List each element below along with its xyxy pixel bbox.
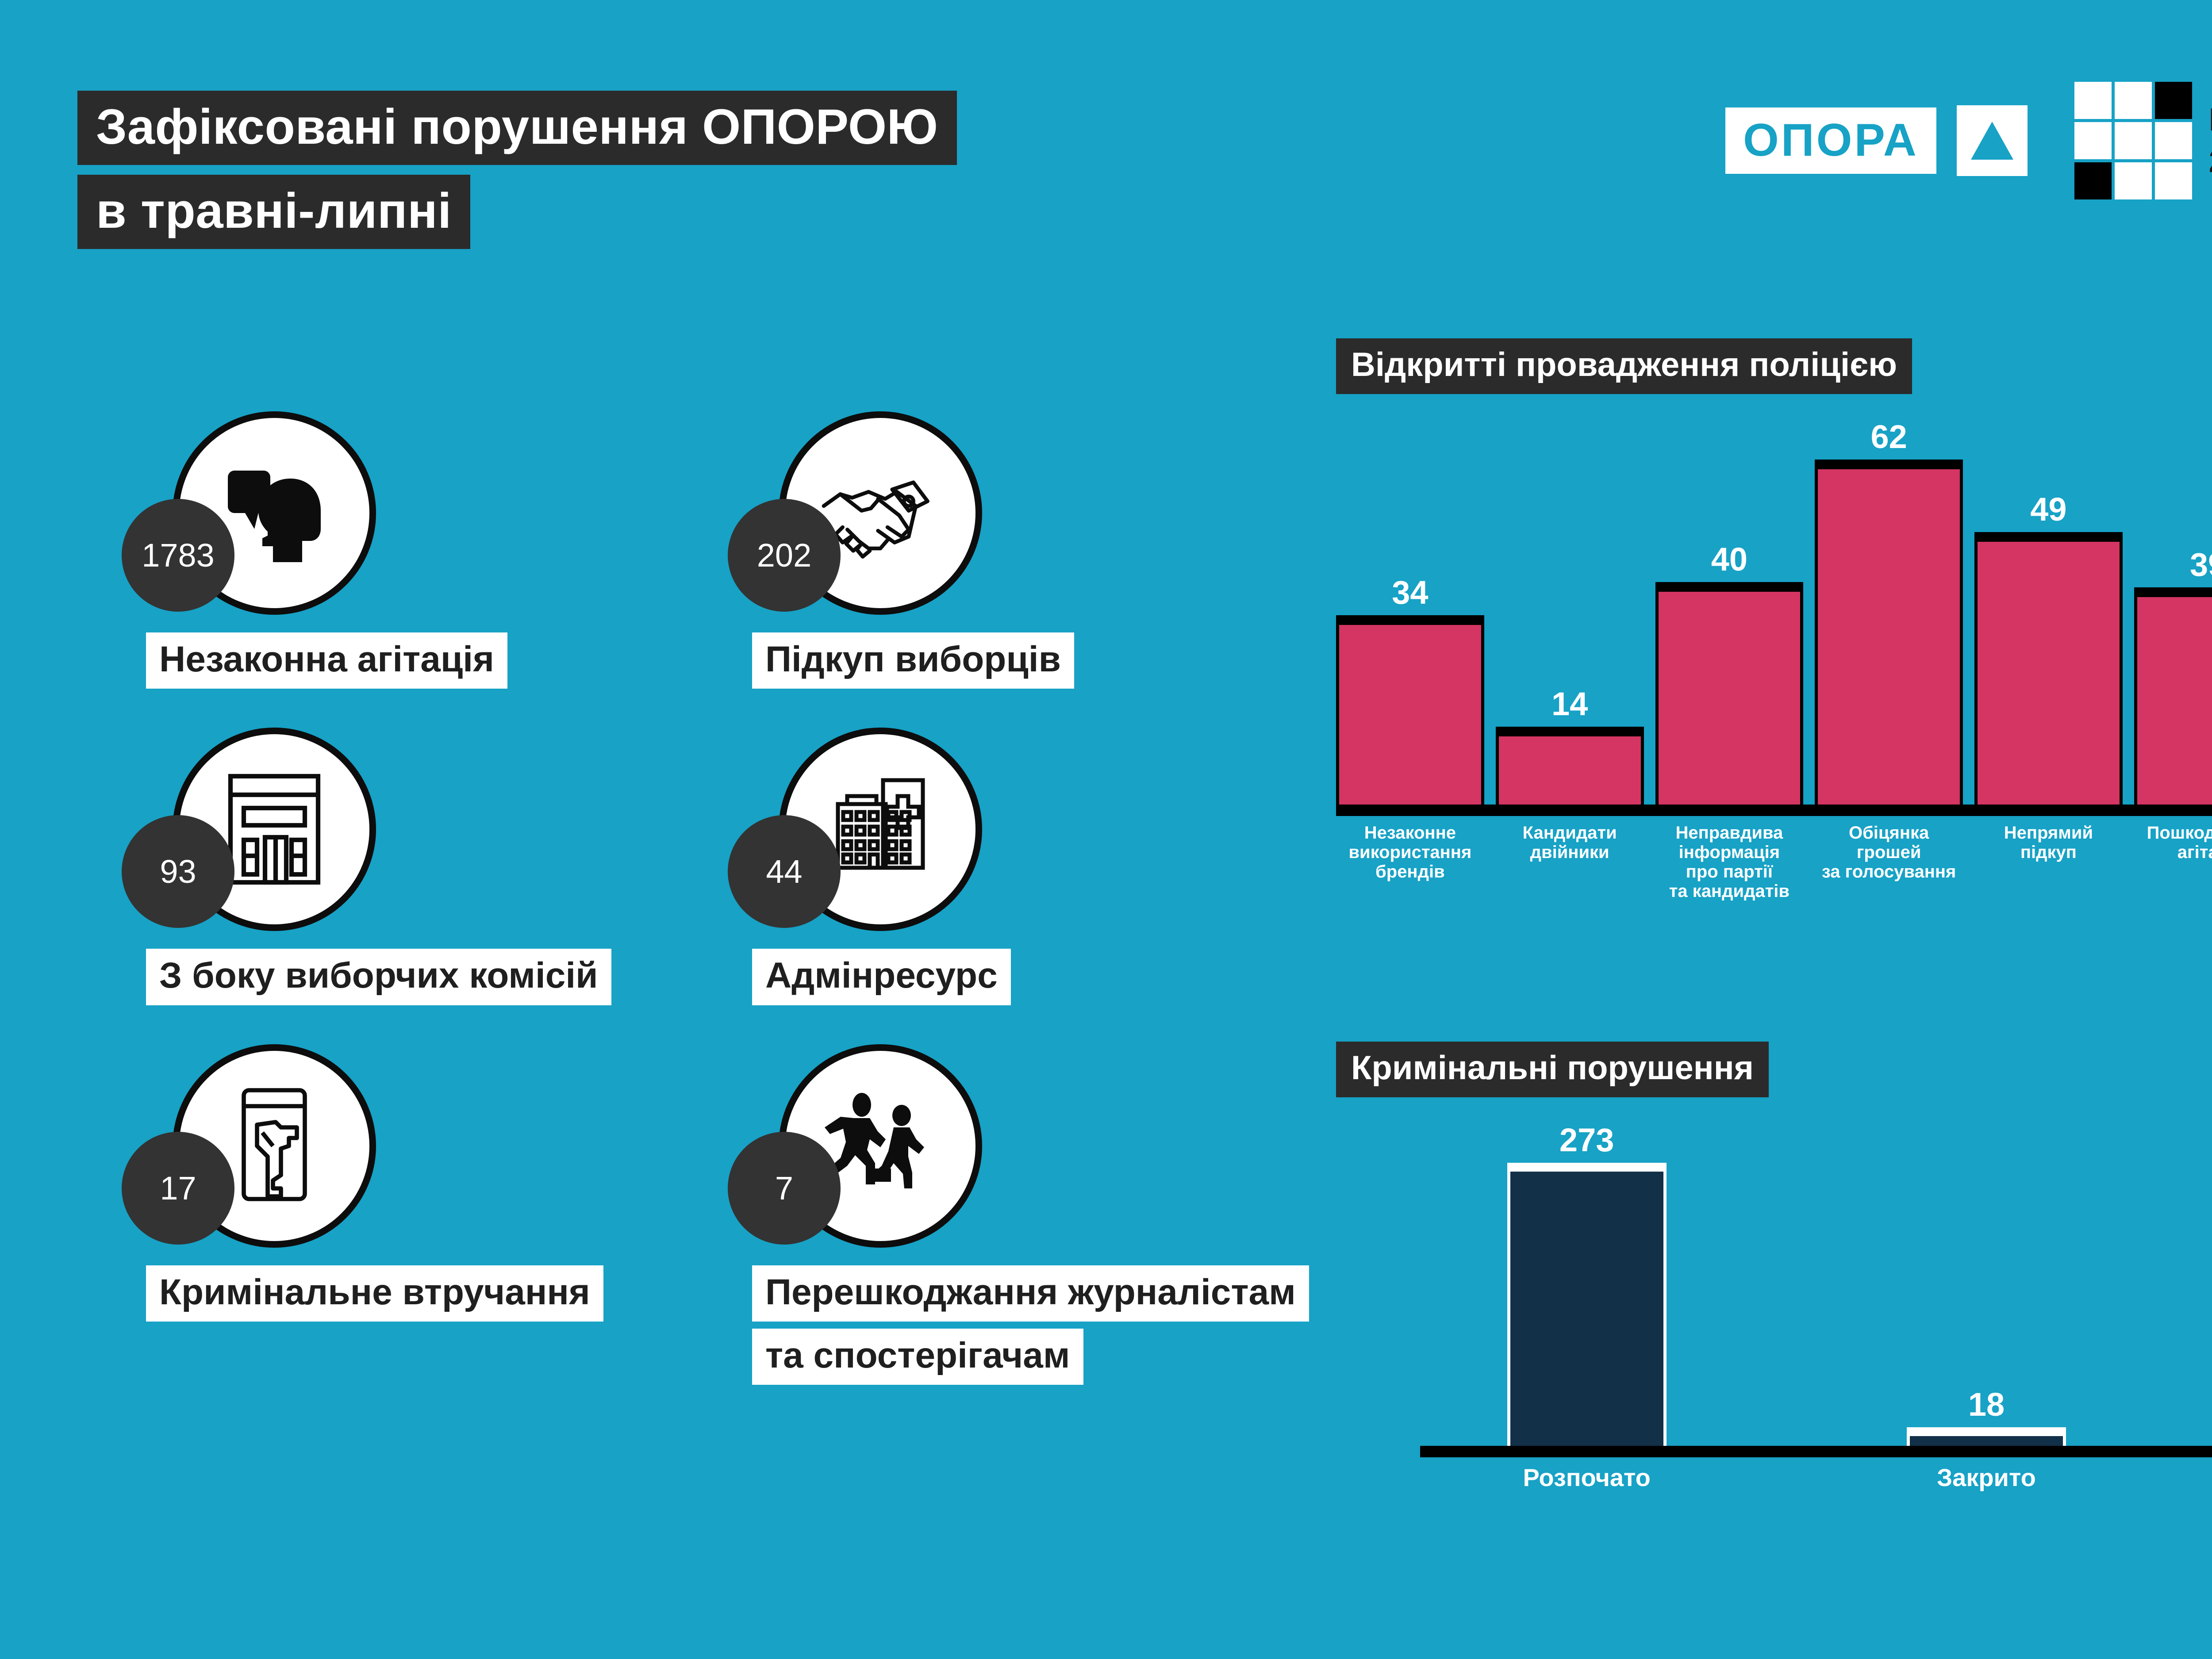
bar-column: 49 — [1974, 493, 2123, 805]
handshake-money-icon: 202 — [779, 411, 982, 615]
running-people-icon: 7 — [779, 1044, 982, 1248]
bar-value-label: 273 — [1559, 1124, 1614, 1157]
x-axis-label: Пошкодженняагітації — [2134, 823, 2212, 901]
bar-column: 14 — [1496, 688, 1644, 805]
chart-plot-area: 3414406249391121 Незаконневикористаннябр… — [1336, 421, 2212, 901]
bar-value-label: 49 — [2030, 493, 2066, 526]
grid-cell — [2074, 82, 2112, 119]
bar-column: 18 — [1833, 1388, 2139, 1446]
bar — [1655, 582, 1804, 805]
card-caption: Перешкоджання журналістам та спостерігач… — [752, 1265, 1296, 1385]
card-caption: Незаконна агітація — [146, 632, 752, 689]
card-caption: Кримінальне втручання — [146, 1265, 752, 1322]
chart-title: Відкритті провадження поліцією — [1336, 338, 1912, 394]
count-badge: 202 — [728, 499, 841, 612]
title-line-1: Зафіксовані порушення ОПОРОЮ — [77, 91, 957, 165]
count-badge: 17 — [122, 1132, 234, 1245]
x-axis-line — [1336, 805, 2212, 816]
bar-series: 3414406249391121 — [1336, 421, 2212, 805]
opora-logo-wordmark: ОПОРА — [1725, 107, 1936, 174]
polling-station-building-icon: 93 — [173, 728, 376, 931]
violation-cards: 1783 Незаконна агітація — [146, 411, 1296, 1424]
bar-column: 40 — [1655, 543, 1804, 805]
logo-area: ОПОРА ВИБОРИ 2019 — [1725, 82, 2212, 199]
grid-cell — [2155, 162, 2192, 199]
bar-value-label: 18 — [1968, 1388, 2005, 1421]
card-label: Кримінальне втручання — [146, 1265, 603, 1322]
chart-title: Кримінальні порушення — [1336, 1042, 1769, 1097]
x-axis-labels: РозпочатоЗакритоТриваєрослідування — [1433, 1464, 2212, 1518]
x-axis-label: Кандидатидвійники — [1496, 823, 1644, 901]
x-axis-labels: НезаконневикористаннябрендівКандидатидві… — [1336, 823, 2212, 901]
card-admin-resource: 44 Адмінресурс — [752, 728, 1296, 1005]
grid-cell — [2115, 82, 2152, 119]
bar — [1974, 532, 2123, 805]
grid-cell — [2074, 122, 2112, 159]
card-caption: Підкуп виборців — [752, 632, 1296, 689]
card-illegal-campaigning: 1783 Незаконна агітація — [146, 411, 752, 689]
bar-value-label: 39 — [2190, 548, 2212, 581]
grid-cell-black — [2155, 82, 2192, 119]
page-title: Зафіксовані порушення ОПОРОЮ в травні-ли… — [77, 91, 957, 249]
opora-triangle-icon — [1957, 105, 2028, 176]
bar-column: 39 — [2134, 548, 2212, 805]
x-axis-label: Закрито — [1833, 1464, 2139, 1518]
bar-column: 34 — [1336, 576, 1484, 805]
bar-value-label: 40 — [1711, 543, 1747, 576]
card-caption: Адмінресурс — [752, 949, 1296, 1005]
count-badge: 44 — [728, 815, 841, 928]
bar-series: 27318255 — [1433, 1124, 2212, 1446]
bar — [1507, 1163, 1667, 1446]
bar-column: 62 — [1815, 421, 1963, 805]
x-axis-label: Розпочато — [1433, 1464, 1740, 1518]
vybory-2019-logo: ВИБОРИ 2019 — [2074, 82, 2212, 199]
card-journalist-obstruction: 7 Перешкоджання журналістам та спостеріг… — [752, 1044, 1296, 1385]
x-axis-label: Обіцянкагрошейза голосування — [1815, 823, 1963, 901]
chart-police-proceedings: Відкритті провадження поліцією 341440624… — [1336, 338, 2212, 901]
grid-cell-black — [2074, 162, 2112, 199]
card-label: Незаконна агітація — [146, 632, 507, 689]
count-badge: 1783 — [122, 499, 234, 612]
grid-cell — [2115, 162, 2152, 199]
x-axis-label: Непрямийпідкуп — [1974, 823, 2123, 901]
grid-cell — [2115, 122, 2152, 159]
card-row-3: 17 Кримінальне втручання — [146, 1044, 1296, 1385]
card-voter-bribery: 202 Підкуп виборців — [752, 411, 1296, 689]
card-label: Підкуп виборців — [752, 632, 1074, 689]
x-axis-line — [1420, 1446, 2212, 1457]
bar — [1907, 1427, 2066, 1446]
hospital-building-icon: 44 — [779, 728, 982, 931]
infographic-canvas: Зафіксовані порушення ОПОРОЮ в травні-ли… — [0, 0, 2212, 1659]
count-badge: 93 — [122, 815, 234, 928]
card-election-commissions: 93 З боку виборчих комісій — [146, 728, 752, 1005]
x-axis-label: Незаконневикористаннябрендів — [1336, 823, 1484, 901]
bar-value-label: 62 — [1870, 421, 1907, 453]
card-criminal-interference: 17 Кримінальне втручання — [146, 1044, 752, 1385]
vybory-label: ВИБОРИ — [2209, 104, 2212, 136]
vybory-year: 2019 — [2209, 146, 2212, 177]
card-caption: З боку виборчих комісій — [146, 949, 752, 1005]
bar-value-label: 14 — [1551, 688, 1588, 720]
x-axis-label: Неправдиваінформаціяпро партіїта кандида… — [1655, 823, 1804, 901]
chart-plot-area: 27318255 РозпочатоЗакритоТриваєрослідува… — [1336, 1124, 2212, 1518]
card-row-1: 1783 Незаконна агітація — [146, 411, 1296, 689]
card-label-line-2: та спостерігачам — [752, 1329, 1083, 1385]
speaking-head-icon: 1783 — [173, 411, 376, 615]
card-row-2: 93 З боку виборчих комісій — [146, 728, 1296, 1005]
bar — [1496, 727, 1644, 805]
gun-evidence-bag-icon: 17 — [173, 1044, 376, 1248]
bar — [1336, 615, 1484, 805]
grid-cell — [2155, 122, 2192, 159]
bar-column: 273 — [1433, 1124, 1740, 1446]
bar — [2134, 587, 2212, 805]
bar-value-label: 34 — [1392, 576, 1428, 609]
count-badge: 7 — [728, 1132, 841, 1245]
bar — [1815, 460, 1963, 805]
checker-grid-icon — [2074, 82, 2192, 199]
card-label: Адмінресурс — [752, 949, 1011, 1005]
card-label: З боку виборчих комісій — [146, 949, 611, 1005]
card-label-line-1: Перешкоджання журналістам — [752, 1265, 1309, 1322]
chart-criminal-violations: Кримінальні порушення 27318255 Розпочато… — [1336, 1042, 2212, 1518]
title-line-2: в травні-липні — [77, 175, 470, 249]
